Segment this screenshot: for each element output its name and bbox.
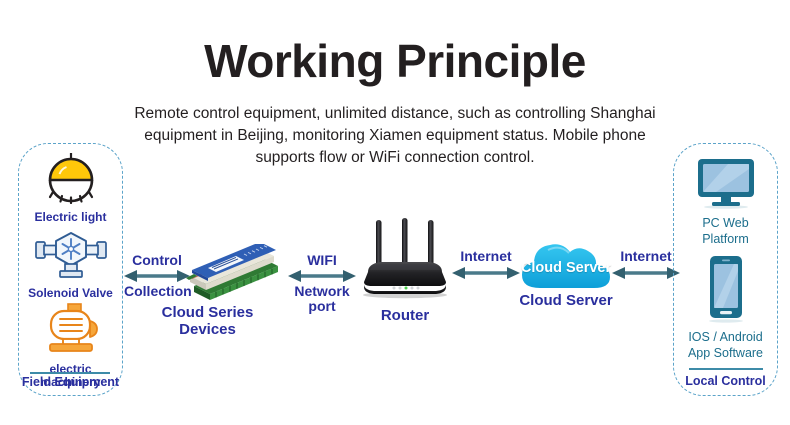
arrow-label-above: Internet: [452, 248, 520, 264]
arrow-label-below: Collection: [124, 283, 190, 299]
double-arrow-icon: [452, 266, 520, 280]
router-device: [350, 218, 460, 305]
double-arrow-icon: [124, 269, 190, 283]
field-item-label: Solenoid Valve: [18, 287, 123, 300]
cloud-server-label: Cloud Server: [508, 292, 624, 309]
cloud-series-device-label: Cloud Series Devices: [150, 304, 265, 338]
solenoid-valve-icon: [34, 228, 108, 280]
page-title: Working Principle: [0, 34, 790, 88]
diagram-canvas: Working Principle Remote control equipme…: [0, 0, 790, 425]
client-item-label-line1: IOS / Android: [673, 330, 778, 344]
page-subtitle: Remote control equipment, unlimited dist…: [118, 103, 672, 169]
arrow-label-below-line1: Network: [288, 283, 356, 299]
plc-module-icon: [186, 244, 282, 306]
cloud-series-device: [186, 244, 282, 311]
local-control-caption: Local Control: [673, 374, 778, 388]
left-panel-divider: [30, 372, 110, 374]
field-item-label: Electric light: [18, 211, 123, 224]
field-item-solenoid-valve: Solenoid Valve: [18, 228, 123, 300]
client-item-pc-web-platform: PC Web Platform: [673, 157, 778, 246]
cloud-server-node: Cloud Server: [518, 238, 614, 299]
arrow-label-above: Control: [124, 252, 190, 268]
arrow-field-to-device: Control Collection: [124, 252, 190, 302]
lamp-icon: [38, 152, 104, 204]
smartphone-icon: [704, 255, 748, 323]
client-item-label-line1: PC Web: [673, 216, 778, 230]
router-icon: [350, 218, 460, 300]
cloud-inner-label: Cloud Server: [518, 260, 614, 276]
double-arrow-icon: [288, 269, 356, 283]
right-panel-divider: [689, 368, 763, 370]
electric-motor-icon: [38, 302, 104, 356]
field-item-electric-light: Electric light: [18, 152, 123, 224]
field-equipment-caption: Field Equipment: [18, 375, 123, 389]
client-item-label-line2: Platform: [673, 232, 778, 246]
arrow-label-above: Internet: [612, 248, 680, 264]
arrow-cloud-to-clients: Internet: [612, 248, 680, 282]
arrow-label-below-line2: port: [288, 298, 356, 314]
arrow-label-above: WIFI: [288, 252, 356, 268]
double-arrow-icon: [612, 266, 680, 280]
arrow-router-to-cloud: Internet: [452, 248, 520, 282]
device-label-line1: Cloud Series: [162, 304, 254, 321]
monitor-icon: [694, 157, 758, 209]
client-item-app-software: IOS / Android App Software: [673, 255, 778, 360]
arrow-device-to-router: WIFI Network port: [288, 252, 356, 308]
router-label: Router: [355, 307, 455, 324]
client-item-label-line2: App Software: [673, 346, 778, 360]
device-label-line2: Devices: [179, 321, 236, 338]
